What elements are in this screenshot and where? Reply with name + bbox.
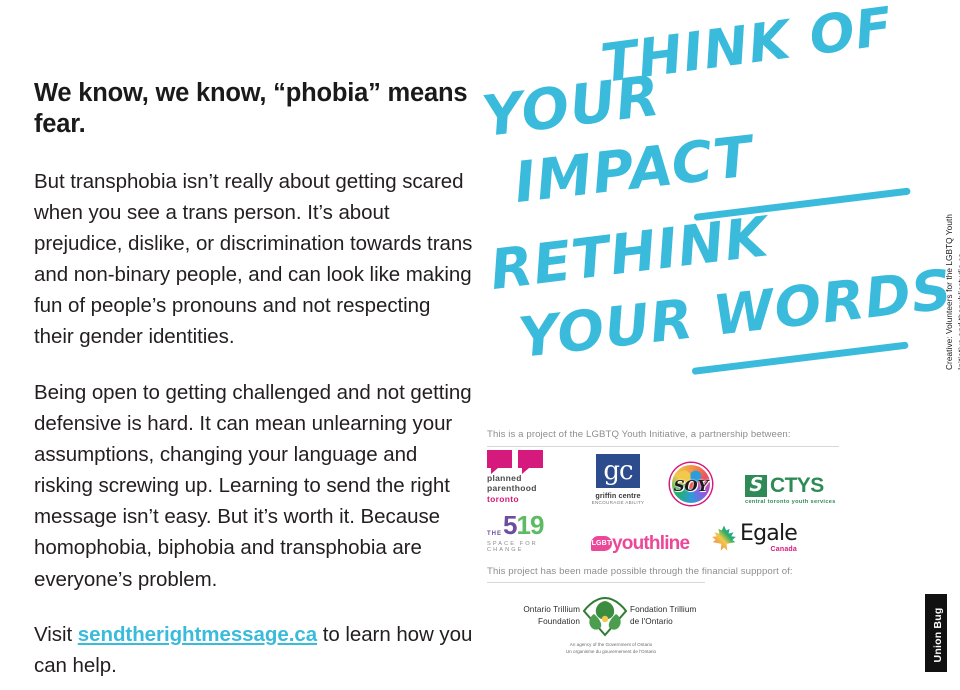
union-bug-label: Union Bug [929,596,947,674]
trillium-agency-en: An agency of the Government of Ontario [501,642,721,649]
logo-lgbt-youthline: LGBT youthline [591,534,695,553]
griffin-tagline: ENCOURAGE ABILITY [583,500,653,505]
rainbow-maple-leaf-icon [711,524,737,552]
creative-credit-text: Creative: Volunteers for the LGBTQ Youth… [944,190,960,370]
youthline-badge-icon: LGBT [591,536,612,551]
ctys-wordmark: CTYS [770,475,824,496]
brush-headline-art: THINK OF YOUR IMPACT RETHINK YOUR WORDS [470,28,940,398]
egale-canada-subword: Canada [740,546,797,553]
trillium-french-name: Fondation Trillium de l'Ontario [630,604,708,628]
ctys-tagline: central toronto youth services [745,499,841,505]
ctys-swoosh-icon [745,475,767,497]
funders-caption: This project has been made possible thro… [487,565,847,579]
website-link[interactable]: sendtherightmessage.ca [78,623,317,646]
body-paragraph-1: But transphobia isn’t really about getti… [34,166,474,353]
union-bug-badge: Union Bug [925,594,947,672]
brush-line-your: YOUR [479,69,663,146]
griffin-name: griffin centre [583,491,653,500]
speech-bubbles-icon [487,450,549,473]
trillium-flower-icon [580,595,630,637]
the519-digit-1: 1 [516,513,529,538]
left-text-column: We know, we know, “phobia” means fear. B… [34,78,474,681]
soy-rainbow-circle-icon: SOY [670,463,712,505]
youthline-wordmark: youthline [612,534,689,553]
funders-divider [487,582,705,583]
partners-caption: This is a project of the LGBTQ Youth Ini… [487,428,847,442]
the519-tagline: SPACE FOR CHANGE [487,541,573,553]
page-title: We know, we know, “phobia” means fear. [34,78,474,140]
logo-soy: SOY [663,463,719,505]
partner-logo-row-1: planned parenthood toronto gc griffin ce… [487,457,847,505]
logo-planned-parenthood-toronto: planned parenthood toronto [487,450,569,505]
logo-the-519: THE 5 1 9 SPACE FOR CHANGE [487,513,573,553]
trillium-agency-fr: Un organisme du gouvernement de l'Ontari… [501,649,721,656]
logo-ontario-trillium-foundation: Ontario Trillium Foundation Fondation Tr… [501,595,721,656]
logo-egale-canada: Egale Canada [711,523,803,553]
poster-canvas: We know, we know, “phobia” means fear. B… [0,0,960,690]
partners-divider [487,446,839,447]
visit-call-to-action: Visit sendtherightmessage.ca to learn ho… [34,619,474,681]
visit-prefix: Visit [34,623,78,646]
partner-logo-row-2: THE 5 1 9 SPACE FOR CHANGE LGBT youthlin… [487,515,847,553]
logo-griffin-centre: gc griffin centre ENCOURAGE ABILITY [583,454,653,505]
pp-line-2: parenthood [487,483,569,494]
body-paragraph-2: Being open to getting challenged and not… [34,377,474,595]
credits-block: This is a project of the LGBTQ Youth Ini… [487,428,847,656]
pp-line-1: planned [487,473,569,484]
the519-digit-5: 5 [503,513,516,538]
the519-the: THE [487,531,502,537]
logo-ctys: CTYS central toronto youth services [745,475,841,505]
creative-credit-vertical: Creative: Volunteers for the LGBTQ Youth… [922,370,948,550]
pp-line-3: toronto [487,494,569,505]
trillium-english-name: Ontario Trillium Foundation [514,604,580,628]
egale-wordmark: Egale [740,523,797,545]
soy-monogram: SOY [672,476,710,494]
the519-digit-9: 9 [530,513,543,538]
griffin-monogram: gc [596,454,640,488]
